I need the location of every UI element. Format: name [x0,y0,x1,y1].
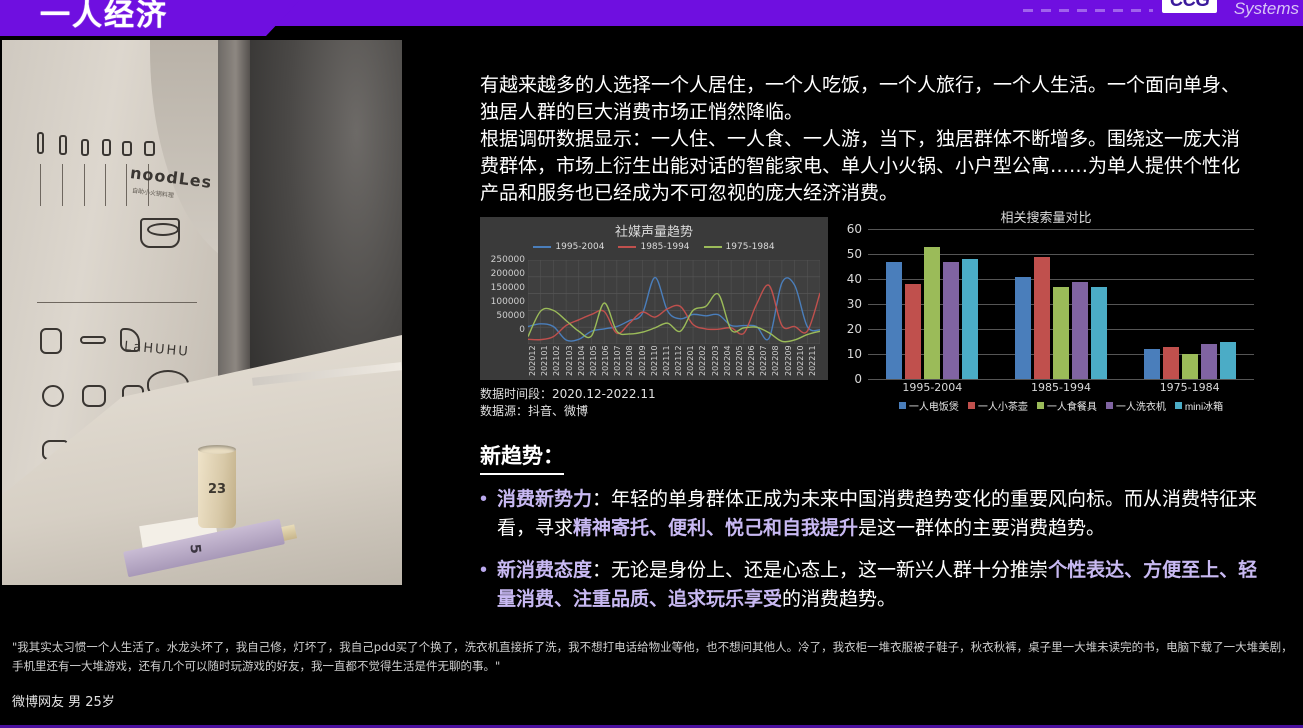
data-source-label: 数据源： [480,404,528,418]
bullet-segment-1: 无论是身份上、还是心态上，这一新兴人群十分推崇 [611,559,1048,581]
bar [1072,282,1088,380]
bar-group [997,229,1126,379]
photo-menu-rule [62,164,63,206]
quote-attribution: 微博网友 男 25岁 [12,691,115,710]
bar [1091,287,1107,380]
legend-label: 1995-2004 [555,242,604,252]
x-tick-label: 202109 [638,345,650,379]
x-tick-label: 202202 [698,345,710,379]
intro-paragraph-line2: 根据调研数据显示：一人住、一人食、一人游，当下，独居群体不断增多。围绕这一庞大消… [480,126,1256,207]
data-source-value: 抖音、微博 [528,404,588,418]
photo-ingredient-glyph [82,385,106,407]
legend-swatch [899,402,906,409]
photo-menu-rule [84,164,85,206]
y-tick-label: 20 [847,322,862,336]
photo-menu-rule [126,164,127,206]
header-dash-decoration [1023,9,1153,12]
x-tick-label: 202110 [650,345,662,379]
bar [1182,354,1198,379]
bar-group [868,229,997,379]
bar [1201,344,1217,379]
legend-label: 1985-1994 [640,242,689,252]
y-tick-label: 200000 [480,267,525,281]
x-tick-label: 202209 [784,345,796,379]
photo-menu-glyph [102,139,111,156]
chart-title: 社媒声量趋势 [480,217,828,240]
intro-paragraph: 有越来越多的人选择一个人居住，一个人吃饭，一个人旅行，一个人生活。一个面向单身、… [480,72,1256,207]
chart-plot-area [868,229,1254,379]
x-tick-label: 202112 [674,345,686,379]
bar [1163,347,1179,380]
bar [886,262,902,380]
slide: 一人经济 CCG Miaozhen Systems noodLes 自助小火锅料… [0,0,1303,728]
data-source-note: 数据时间段：2020.12-2022.11 数据源：抖音、微博 [480,386,656,420]
y-tick-label: 100000 [480,295,525,309]
photo-ingredient-glyph [42,385,64,407]
x-tick-label: 202204 [723,345,735,379]
miaozhen-logo-line2: Systems [1226,1,1299,16]
bar [1144,349,1160,379]
bar [905,284,921,379]
y-tick-label: 50000 [480,309,525,323]
bullet-item: • 消费新势力：年轻的单身群体正成为未来中国消费趋势变化的重要风向标。而从消费特… [480,485,1258,543]
related-search-volume-chart: 相关搜索量对比 6050403020100 1995-20041985-1994… [836,207,1256,407]
miaozhen-logo: Miaozhen Systems [1226,0,1299,16]
y-tick-label: 150000 [480,281,525,295]
user-quote: "我其实太习惯一个人生活了。水龙头坏了，我自己修，灯坏了，我自己pdd买了个换了… [12,638,1294,676]
photo-menu-glyph [81,139,89,156]
chart-title: 相关搜索量对比 [836,207,1256,226]
chart-y-axis-labels: 250000200000150000100000500000 [480,253,525,337]
photo-ingredient-glyph [40,328,62,354]
bullet-lead: 消费新势力 [497,488,592,510]
legend-label: 一人洗衣机 [1116,398,1166,413]
bar [924,247,940,380]
intro-paragraph-line1: 有越来越多的人选择一个人居住，一个人吃饭，一个人旅行，一个人生活。一个面向单身、… [480,72,1256,126]
photo-menu-rule [40,164,41,206]
solo-dining-booth-photo: noodLes 自助小火锅料理 LaHUHU 5 23 [2,40,402,585]
legend-item: 1985-1994 [618,242,689,252]
y-tick-label: 40 [847,272,862,286]
x-tick-label: 202208 [771,345,783,379]
x-tick-label: 202206 [747,345,759,379]
x-tick-label: 202205 [735,345,747,379]
legend-label: 一人小茶壶 [978,398,1028,413]
x-tick-label: 1995-2004 [868,381,997,394]
legend-item: mini冰箱 [1175,398,1223,413]
x-tick-label: 1985-1994 [997,381,1126,394]
legend-label: 一人电饭煲 [909,398,959,413]
legend-swatch [618,246,636,248]
grid-line [868,379,1254,380]
photo-bowl-illustration [140,218,180,248]
x-tick-label: 1975-1984 [1125,381,1254,394]
y-tick-label: 50 [847,247,862,261]
bullet-item: • 新消费态度：无论是身份上、还是心态上，这一新兴人群十分推崇个性表达、方便至上… [480,556,1258,614]
legend-label: mini冰箱 [1185,398,1223,413]
legend-item: 一人洗衣机 [1106,398,1166,413]
x-tick-label: 202211 [808,345,820,379]
photo-chopstick-number: 5 [186,543,203,554]
x-tick-label: 202203 [711,345,723,379]
chart-bar-groups [868,229,1254,379]
legend-item: 1995-2004 [533,242,604,252]
bullet-text: 新消费态度：无论是身份上、还是心态上，这一新兴人群十分推崇个性表达、方便至上、轻… [497,556,1258,614]
photo-paper-cup: 23 [198,448,236,528]
legend-swatch [1106,402,1113,409]
bar [962,259,978,379]
data-period-row: 数据时间段：2020.12-2022.11 [480,386,656,403]
x-tick-label: 202012 [528,345,540,379]
bullet-separator: ： [592,488,611,510]
ccg-logo: CCG [1162,0,1217,13]
legend-swatch [968,402,975,409]
x-tick-label: 202104 [577,345,589,379]
x-tick-label: 202111 [662,345,674,379]
bar [1034,257,1050,380]
legend-item: 一人电饭煲 [899,398,959,413]
page-title: 一人经济 [40,0,168,34]
legend-swatch [1037,402,1044,409]
bar [1220,342,1236,380]
legend-item: 一人食餐具 [1037,398,1097,413]
x-tick-label: 202108 [625,345,637,379]
legend-swatch [704,246,722,248]
chart-x-axis-labels: 1995-20041985-19941975-1984 [868,381,1254,394]
bar-group [1125,229,1254,379]
data-period-label: 数据时间段： [480,387,552,401]
y-tick-label: 10 [847,347,862,361]
y-tick-label: 0 [480,323,525,337]
bullet-separator: ： [592,559,611,581]
chart-plot-area [528,260,820,344]
bullet-highlight: 精神寄托、便利、悦己和自我提升 [573,517,858,539]
bullet-text: 消费新势力：年轻的单身群体正成为未来中国消费趋势变化的重要风向标。而从消费特征来… [497,485,1258,543]
chart-y-axis-labels: 6050403020100 [836,229,864,379]
bar [1053,287,1069,380]
photo-menu-glyph [59,135,67,155]
bullet-marker: • [480,556,487,614]
y-tick-label: 30 [847,297,862,311]
bar [943,262,959,380]
chart-body: 6050403020100 1995-20041985-19941975-198… [836,229,1256,384]
legend-item: 1975-1984 [704,242,775,252]
photo-cup-number: 23 [198,482,236,497]
data-period-value: 2020.12-2022.11 [552,387,656,401]
line-chart-svg [528,260,820,344]
x-tick-label: 202105 [589,345,601,379]
photo-menu-glyph [122,141,132,156]
photo-section-divider [37,302,197,303]
x-tick-label: 202207 [759,345,771,379]
data-source-row: 数据源：抖音、微博 [480,403,656,420]
legend-swatch [533,246,551,248]
bullet-segment-2: 的消费趋势。 [782,588,896,610]
x-tick-label: 202201 [686,345,698,379]
y-tick-label: 60 [847,222,862,236]
legend-label: 1975-1984 [726,242,775,252]
x-tick-label: 202101 [540,345,552,379]
legend-label: 一人食餐具 [1047,398,1097,413]
x-tick-label: 202106 [601,345,613,379]
bullet-marker: • [480,485,487,543]
chart-legend: 一人电饭煲一人小茶壶一人食餐具一人洗衣机mini冰箱 [868,398,1254,413]
legend-item: 一人小茶壶 [968,398,1028,413]
x-tick-label: 202102 [552,345,564,379]
y-tick-label: 0 [854,372,862,386]
x-tick-label: 202210 [796,345,808,379]
social-volume-trend-chart: 社媒声量趋势 1995-20041985-19941975-1984 25000… [480,217,828,380]
bar [1015,277,1031,380]
legend-swatch [1175,402,1182,409]
new-trend-heading: 新趋势： [480,440,564,475]
chart-legend: 1995-20041985-19941975-1984 [480,242,828,252]
photo-menu-glyph [144,141,155,156]
chart-x-axis-labels: 2020122021012021022021032021042021052021… [528,345,820,379]
bullet-segment-2: 是这一群体的主要消费趋势。 [858,517,1105,539]
y-tick-label: 250000 [480,253,525,267]
photo-menu-rule [105,164,106,206]
x-tick-label: 202107 [613,345,625,379]
x-tick-label: 202103 [565,345,577,379]
photo-menu-glyph [37,132,44,154]
bullet-lead: 新消费态度 [497,559,592,581]
photo-ingredient-glyph [80,336,106,344]
